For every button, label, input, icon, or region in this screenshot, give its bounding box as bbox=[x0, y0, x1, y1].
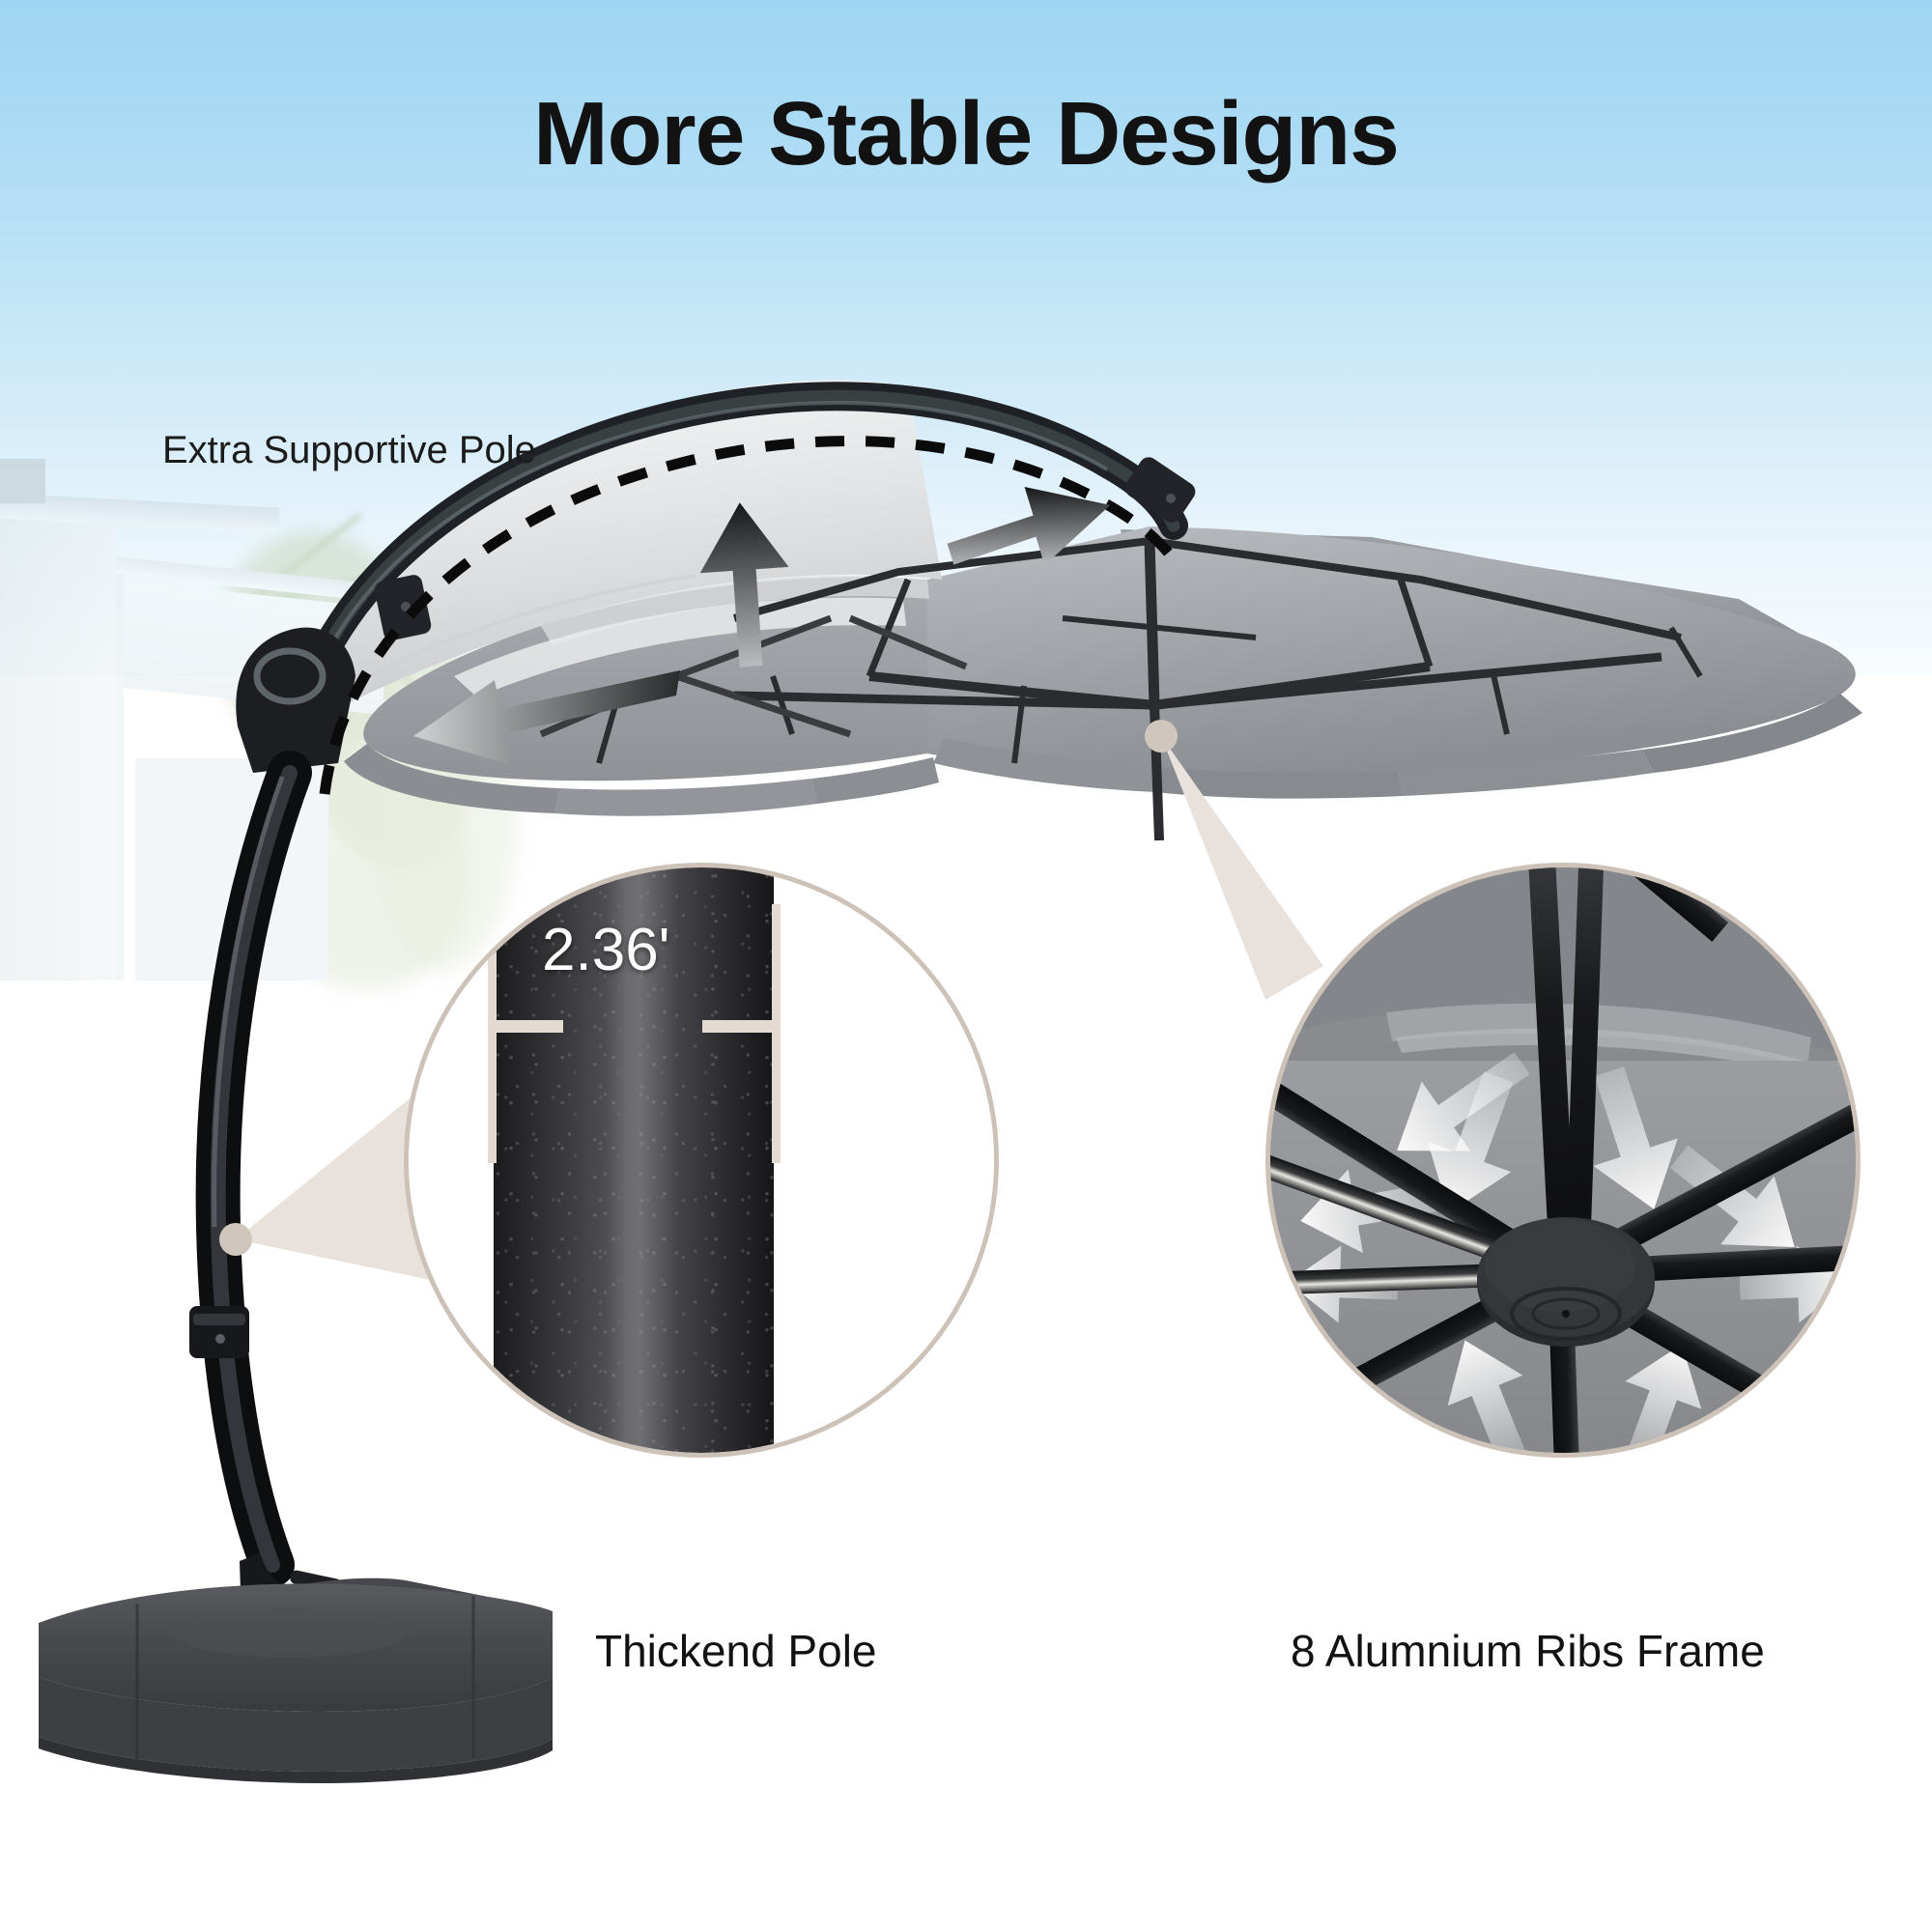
caption-ribs-frame: 8 Alumnium Ribs Frame bbox=[1291, 1625, 1765, 1677]
pole-diameter-value: 2.36' bbox=[542, 916, 670, 984]
callout-dot-ribs bbox=[1145, 720, 1178, 753]
caption-thickend-pole: Thickend Pole bbox=[595, 1625, 877, 1677]
extra-supportive-pole-label: Extra Supportive Pole bbox=[162, 429, 536, 472]
detail-circle-thickend-pole: 2.36' bbox=[404, 863, 999, 1458]
caliper-right-tick bbox=[772, 904, 781, 1163]
detail-circle-ribs-frame bbox=[1265, 863, 1861, 1458]
infographic-canvas: More Stable Designs bbox=[0, 0, 1932, 1932]
ribs-frame-diagram bbox=[1270, 867, 1861, 1458]
caliper-right-bar bbox=[702, 1020, 781, 1033]
caliper-left-tick bbox=[488, 904, 497, 1163]
callout-dot-pole bbox=[219, 1223, 252, 1256]
rib-hub bbox=[1477, 1217, 1655, 1347]
caliper-left-bar bbox=[488, 1020, 563, 1033]
